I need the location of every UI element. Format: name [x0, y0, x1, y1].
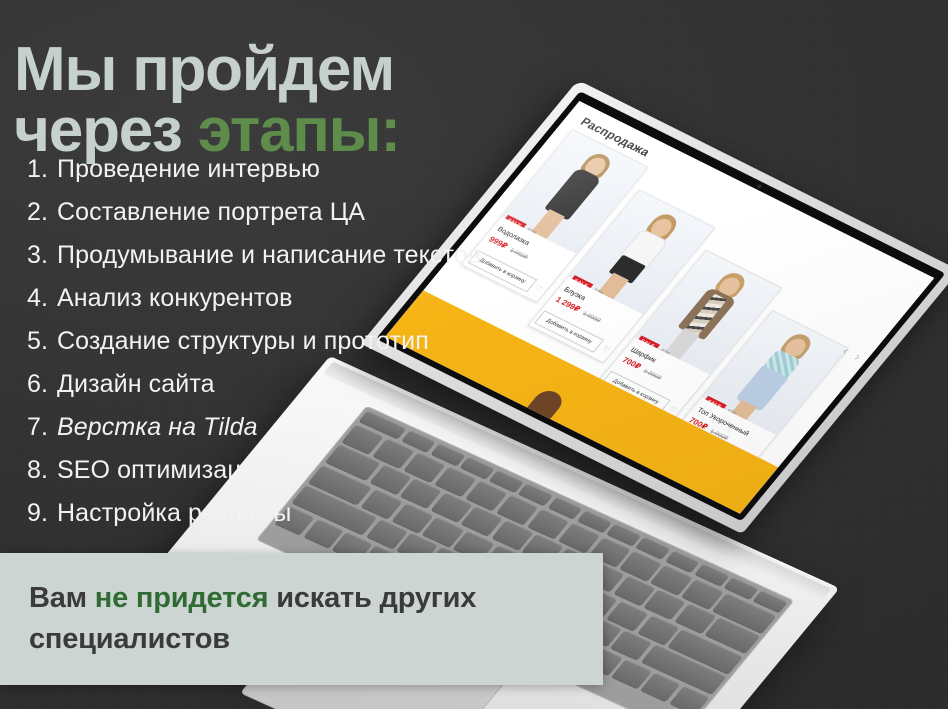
- list-item: 6. Дизайн сайта: [14, 372, 584, 397]
- list-item-number: 2.: [14, 200, 48, 225]
- model-legs: [665, 328, 700, 359]
- list-item-label: Продумывание и написание текстов: [57, 243, 481, 268]
- list-item: 9. Настройка рекламы: [14, 501, 584, 526]
- banner-text-highlight: не придется: [95, 582, 269, 614]
- list-item: 5. Создание структуры и прототип: [14, 329, 584, 354]
- list-item: 8. SEO оптимизация: [14, 458, 584, 483]
- carousel-next-icon[interactable]: ›: [851, 350, 865, 364]
- headline-line-2: через этапы:: [14, 101, 614, 161]
- list-item-number: 8.: [14, 458, 48, 483]
- list-item-label: Создание структуры и прототип: [57, 329, 429, 354]
- banner-text-part1: Вам: [29, 582, 95, 614]
- headline-line-1: Мы пройдем: [14, 35, 394, 104]
- list-item-number: 5.: [14, 329, 48, 354]
- heart-icon[interactable]: ♡: [600, 345, 612, 355]
- list-item: 2. Составление портрета ЦА: [14, 200, 584, 225]
- list-item-number: 7.: [14, 415, 48, 440]
- list-item-label: Проведение интервью: [57, 157, 320, 182]
- steps-list: 1. Проведение интервью 2. Составление по…: [14, 157, 584, 544]
- list-item: 4. Анализ конкурентов: [14, 286, 584, 311]
- page-title-headline: Мы пройдем через этапы:: [14, 40, 614, 161]
- list-item-number: 6.: [14, 372, 48, 397]
- bottom-banner: Вам не придется искать других специалист…: [0, 553, 603, 685]
- list-item-number: 4.: [14, 286, 48, 311]
- webcam-icon: [756, 184, 762, 189]
- banner-text: Вам не придется искать других специалист…: [29, 578, 581, 660]
- list-item-number: 3.: [14, 243, 48, 268]
- poster-canvas: Распродажа: [0, 0, 948, 709]
- list-item: 1. Проведение интервью: [14, 157, 584, 182]
- list-item: 3. Продумывание и написание текстов: [14, 243, 584, 268]
- list-item-number: 1.: [14, 157, 48, 182]
- list-item-number: 9.: [14, 501, 48, 526]
- list-item-label: Верстка на Tilda: [57, 415, 258, 440]
- list-item-label: Настройка рекламы: [57, 501, 291, 526]
- price-original: 1 200₽: [642, 367, 663, 381]
- list-item-label: Анализ конкурентов: [57, 286, 292, 311]
- list-item-label: Составление портрета ЦА: [57, 200, 365, 225]
- list-item-label: Дизайн сайта: [57, 372, 215, 397]
- list-item: 7. Верстка на Tilda: [14, 415, 584, 440]
- list-item-label: SEO оптимизация: [57, 458, 269, 483]
- price-original: 1 999₽: [581, 310, 602, 324]
